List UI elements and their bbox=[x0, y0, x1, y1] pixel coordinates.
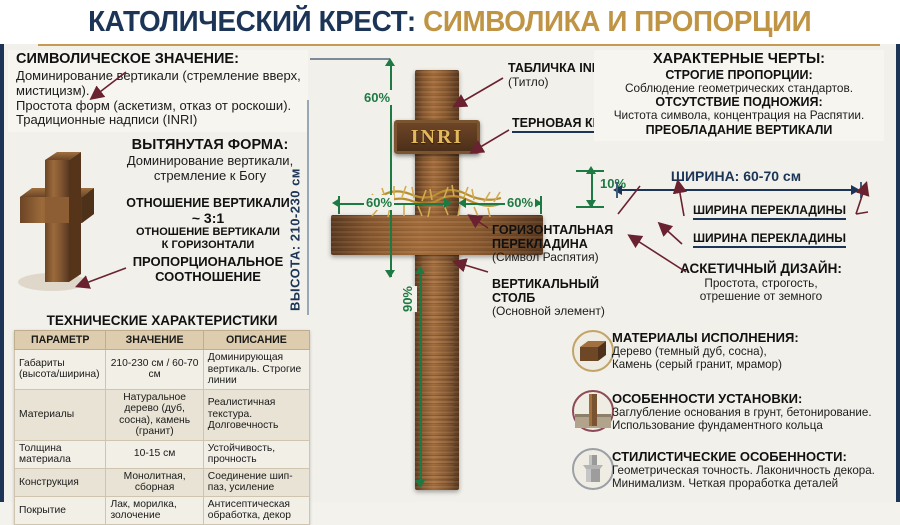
crossbar-width-label-1: ШИРИНА ПЕРЕКЛАДИНЫ bbox=[693, 203, 846, 220]
dim-vertical-90-arrow-up bbox=[415, 266, 425, 274]
table-cell-desc: Антисептическая обработка, декор bbox=[203, 496, 309, 524]
stylistic-line2: Минимализм. Четкая проработка деталей bbox=[612, 477, 894, 490]
dim-pct-vertical: 90% bbox=[398, 286, 417, 312]
table-cell-param: Покрытие bbox=[15, 496, 106, 524]
dim-beam-tick-bottom bbox=[576, 206, 604, 208]
vertical-ratio-sub2: К ГОРИЗОНТАЛИ bbox=[108, 239, 308, 252]
features-sub1: СТРОГИЕ ПРОПОРЦИИ: bbox=[596, 68, 882, 82]
features-heading: ХАРАКТЕРНЫЕ ЧЕРТЫ: bbox=[596, 52, 882, 68]
materials-block: МАТЕРИАЛЫ ИСПОЛНЕНИЯ: Дерево (темный дуб… bbox=[612, 331, 894, 372]
dim-tick-right bbox=[540, 196, 542, 214]
table-cell-param: Материалы bbox=[15, 389, 106, 440]
installation-line1: Заглубление основания в грунт, бетониров… bbox=[612, 406, 894, 419]
vertical-ratio-value: ~ 3:1 bbox=[108, 210, 308, 226]
symbolic-meaning-line2: мистицизм). bbox=[16, 84, 304, 99]
dim-beam-tick-top bbox=[576, 170, 604, 172]
table-cell-desc: Устойчивость, прочность bbox=[203, 440, 309, 468]
proportional-relation-line1: ПРОПОРЦИОНАЛЬНОЕ bbox=[108, 255, 308, 270]
dim-pct-right: 60% bbox=[505, 195, 535, 210]
ascetic-design-line2: отрешение от земного bbox=[646, 290, 876, 304]
installation-heading: ОСОБЕННОСТИ УСТАНОВКИ: bbox=[612, 392, 894, 406]
characteristic-features-block: ХАРАКТЕРНЫЕ ЧЕРТЫ: СТРОГИЕ ПРОПОРЦИИ: Со… bbox=[594, 50, 884, 141]
crossbar-width-label-2: ШИРИНА ПЕРЕКЛАДИНЫ bbox=[693, 231, 846, 248]
table-cell-value: Монолитная, сборная bbox=[106, 468, 203, 496]
vertical-ratio-block: ОТНОШЕНИЕ ВЕРТИКАЛИ ~ 3:1 ОТНОШЕНИЕ ВЕРТ… bbox=[108, 196, 308, 252]
vertical-ratio-heading: ОТНОШЕНИЕ ВЕРТИКАЛИ bbox=[108, 196, 308, 210]
stylistic-line1: Геометрическая точность. Лаконичность де… bbox=[612, 464, 894, 477]
title-underline bbox=[38, 44, 880, 46]
inri-plaque: INRI bbox=[394, 120, 480, 154]
horizontal-beam-callout-sub: (Символ Распятия) bbox=[492, 251, 632, 265]
wood-block-icon bbox=[572, 330, 614, 372]
features-body2: Чистота символа, концентрация на Распяти… bbox=[596, 109, 882, 123]
table-cell-desc: Доминирующая вертикаль. Строгие линии bbox=[203, 350, 309, 390]
table-row: Конструкция Монолитная, сборная Соединен… bbox=[15, 468, 310, 496]
left-border-rule bbox=[0, 0, 3, 502]
dim-top-arrow-down bbox=[385, 270, 395, 278]
table-row: Габариты (высота/ширина) 210-230 см / 60… bbox=[15, 350, 310, 390]
dim-right-arrow-left bbox=[458, 198, 466, 208]
dim-vertical-90-line bbox=[420, 270, 422, 485]
ascetic-design-line1: Простота, строгость, bbox=[646, 277, 876, 291]
stylistic-heading: СТИЛИСТИЧЕСКИЕ ОСОБЕННОСТИ: bbox=[612, 450, 894, 464]
ascetic-design-heading: АСКЕТИЧНЫЙ ДИЗАЙН: bbox=[646, 262, 876, 277]
table-title: ТЕХНИЧЕСКИЕ ХАРАКТЕРИСТИКИ bbox=[14, 313, 310, 328]
dim-pct-left: 60% bbox=[364, 195, 394, 210]
horizontal-beam-callout-head1: ГОРИЗОНТАЛЬНАЯ bbox=[492, 224, 632, 238]
table-cell-value: 210-230 см / 60-70 см bbox=[106, 350, 203, 390]
table-col-param: ПАРАМЕТР bbox=[15, 331, 106, 350]
dim-vertical-90-arrow-down bbox=[415, 480, 425, 488]
table-col-desc: ОПИСАНИЕ bbox=[203, 331, 309, 350]
vertical-ratio-sub1: ОТНОШЕНИЕ ВЕРТИКАЛИ bbox=[108, 226, 308, 239]
table-cell-param: Толщина материала bbox=[15, 440, 106, 468]
installation-block: ОСОБЕННОСТИ УСТАНОВКИ: Заглубление основ… bbox=[612, 392, 894, 433]
width-tick-left bbox=[616, 182, 618, 198]
vertical-post-callout: ВЕРТИКАЛЬНЫЙ СТОЛБ (Основной элемент) bbox=[492, 278, 637, 319]
features-body1: Соблюдение геометрических стандартов. bbox=[596, 82, 882, 96]
dim-tick-left bbox=[338, 196, 340, 214]
table-cell-param: Габариты (высота/ширина) bbox=[15, 350, 106, 390]
features-sub3: ПРЕОБЛАДАНИЕ ВЕРТИКАЛИ bbox=[596, 123, 882, 137]
installation-line2: Использование фундаментного кольца bbox=[612, 419, 894, 432]
table-header-row: ПАРАМЕТР ЗНАЧЕНИЕ ОПИСАНИЕ bbox=[15, 331, 310, 350]
table-row: Покрытие Лак, морилка, золочение Антисеп… bbox=[15, 496, 310, 524]
materials-heading: МАТЕРИАЛЫ ИСПОЛНЕНИЯ: bbox=[612, 331, 894, 345]
table-cell-value: 10-15 см bbox=[106, 440, 203, 468]
vertical-post-callout-sub: (Основной элемент) bbox=[492, 305, 637, 319]
post-in-ground-icon bbox=[572, 390, 614, 432]
table-col-value: ЗНАЧЕНИЕ bbox=[106, 331, 203, 350]
dim-left-arrow-right bbox=[444, 198, 452, 208]
symbolic-meaning-line1: Доминирование вертикали (стремление ввер… bbox=[16, 69, 304, 84]
dim-pct-top: 60% bbox=[362, 90, 392, 105]
symbolic-meaning-block: СИМВОЛИЧЕСКОЕ ЗНАЧЕНИЕ: Доминирование ве… bbox=[8, 50, 308, 132]
proportional-relation-block: ПРОПОРЦИОНАЛЬНОЕ СООТНОШЕНИЕ bbox=[108, 255, 308, 285]
title-bar: КАТОЛИЧЕСКИЙ КРЕСТ: СИМВОЛИКА И ПРОПОРЦИ… bbox=[0, 0, 900, 44]
elongated-form-heading: ВЫТЯНУТАЯ ФОРМА: bbox=[110, 138, 310, 154]
width-arrow-line bbox=[616, 189, 856, 191]
horizontal-beam-callout-head2: ПЕРЕКЛАДИНА bbox=[492, 238, 632, 252]
elongated-form-line2: стремление к Богу bbox=[110, 169, 310, 184]
cross-vertical-post-front-face bbox=[422, 255, 454, 487]
stylistic-block: СТИЛИСТИЧЕСКИЕ ОСОБЕННОСТИ: Геометрическ… bbox=[612, 450, 894, 491]
elongated-form-block: ВЫТЯНУТАЯ ФОРМА: Доминирование вертикали… bbox=[110, 138, 310, 184]
table-cell-value: Лак, морилка, золочение bbox=[106, 496, 203, 524]
table-cell-param: Конструкция bbox=[15, 468, 106, 496]
materials-line1: Дерево (темный дуб, сосна), bbox=[612, 345, 894, 358]
wooden-cross-icon bbox=[12, 142, 108, 292]
dim-top-arrow-up bbox=[385, 58, 395, 66]
width-arrow-right-head bbox=[851, 185, 860, 195]
symbolic-meaning-line3: Простота форм (аскетизм, отказ от роскош… bbox=[16, 99, 304, 114]
page-title-part1: КАТОЛИЧЕСКИЙ КРЕСТ: bbox=[88, 6, 416, 38]
vertical-post-callout-head1: ВЕРТИКАЛЬНЫЙ bbox=[492, 278, 637, 292]
technical-specs-table: ПАРАМЕТР ЗНАЧЕНИЕ ОПИСАНИЕ Габариты (выс… bbox=[14, 330, 310, 525]
width-dimension-label: ШИРИНА: 60-70 см bbox=[616, 168, 856, 184]
inri-plaque-text: INRI bbox=[411, 126, 463, 149]
proportional-relation-line2: СООТНОШЕНИЕ bbox=[108, 270, 308, 285]
height-dimension-label: ВЫСОТА: 210-230 см bbox=[286, 162, 304, 317]
ascetic-design-block: АСКЕТИЧНЫЙ ДИЗАЙН: Простота, строгость, … bbox=[646, 262, 876, 304]
vertical-post-callout-head2: СТОЛБ bbox=[492, 292, 637, 306]
symbolic-meaning-line4: Традиционные надписи (INRI) bbox=[16, 113, 304, 128]
infographic-page: КАТОЛИЧЕСКИЙ КРЕСТ: СИМВОЛИКА И ПРОПОРЦИ… bbox=[0, 0, 900, 502]
features-sub2: ОТСУТСТВИЕ ПОДНОЖИЯ: bbox=[596, 95, 882, 109]
table-row: Толщина материала 10-15 см Устойчивость,… bbox=[15, 440, 310, 468]
table-cell-desc: Соединение шип-паз, усиление bbox=[203, 468, 309, 496]
table-cell-desc: Реалистичная текстура. Долговечность bbox=[203, 389, 309, 440]
elongated-form-line1: Доминирование вертикали, bbox=[110, 154, 310, 169]
stone-base-icon bbox=[572, 448, 614, 490]
symbolic-meaning-heading: СИМВОЛИЧЕСКОЕ ЗНАЧЕНИЕ: bbox=[16, 52, 304, 68]
table-cell-value: Натуральное дерево (дуб, сосна), камень … bbox=[106, 389, 203, 440]
materials-line2: Камень (серый гранит, мрамор) bbox=[612, 358, 894, 371]
table-row: Материалы Натуральное дерево (дуб, сосна… bbox=[15, 389, 310, 440]
height-guide-line bbox=[307, 100, 309, 315]
width-tick-right bbox=[860, 182, 862, 198]
page-title-part2: СИМВОЛИКА И ПРОПОРЦИИ bbox=[423, 6, 811, 38]
page-title: КАТОЛИЧЕСКИЙ КРЕСТ: СИМВОЛИКА И ПРОПОРЦИ… bbox=[88, 6, 811, 39]
horizontal-beam-callout: ГОРИЗОНТАЛЬНАЯ ПЕРЕКЛАДИНА (Символ Распя… bbox=[492, 224, 632, 265]
